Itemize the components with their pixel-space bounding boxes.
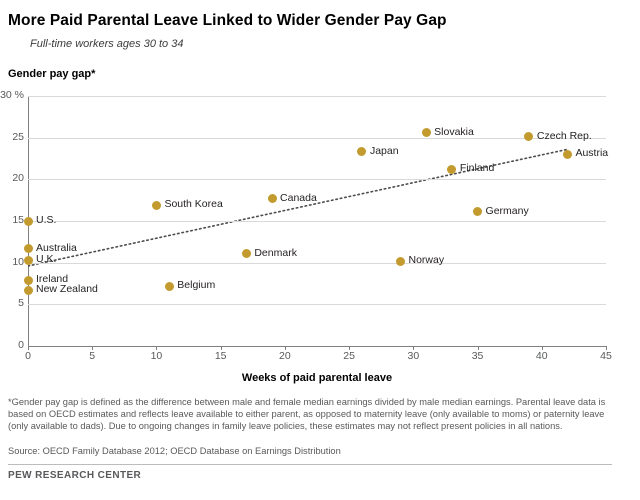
x-tick-label: 40 <box>530 350 554 362</box>
data-point <box>473 207 482 216</box>
x-tick-label: 0 <box>16 350 40 362</box>
plot-area: Weeks of paid parental leave 05101520253… <box>28 96 606 346</box>
data-point-label: Czech Rep. <box>537 130 592 142</box>
x-tick-label: 10 <box>144 350 168 362</box>
gridline <box>28 304 606 305</box>
data-point <box>563 150 572 159</box>
data-point <box>24 286 33 295</box>
source-note: Source: OECD Family Database 2012; OECD … <box>8 446 341 456</box>
data-point-label: Germany <box>486 205 529 217</box>
x-tick-label: 35 <box>466 350 490 362</box>
y-tick-label: 30 % <box>0 89 24 101</box>
footnote: *Gender pay gap is defined as the differ… <box>8 396 620 433</box>
gridline <box>28 179 606 180</box>
data-point <box>268 194 277 203</box>
x-tick-label: 5 <box>80 350 104 362</box>
gridline <box>28 138 606 139</box>
data-point-label: South Korea <box>164 198 222 210</box>
x-tick-label: 20 <box>273 350 297 362</box>
data-point <box>152 201 161 210</box>
x-tick-label: 15 <box>209 350 233 362</box>
y-tick-label: 5 <box>0 297 24 309</box>
data-point <box>24 217 33 226</box>
y-tick-label: 10 <box>0 256 24 268</box>
x-tick-label: 25 <box>337 350 361 362</box>
data-point <box>422 128 431 137</box>
y-tick-label: 25 <box>0 131 24 143</box>
page-title: More Paid Parental Leave Linked to Wider… <box>8 12 447 30</box>
data-point-label: Australia <box>36 242 77 254</box>
gridline <box>28 221 606 222</box>
data-point <box>242 249 251 258</box>
gridline <box>28 263 606 264</box>
data-point-label: U.K. <box>36 253 56 265</box>
data-point-label: New Zealand <box>36 283 98 295</box>
data-point <box>524 132 533 141</box>
y-axis-title: Gender pay gap* <box>8 68 95 80</box>
data-point-label: Denmark <box>254 247 297 259</box>
gridline <box>28 96 606 97</box>
x-tick-label: 30 <box>401 350 425 362</box>
chart-page: More Paid Parental Leave Linked to Wider… <box>0 0 640 500</box>
data-point-label: Japan <box>370 145 399 157</box>
y-tick-label: 20 <box>0 172 24 184</box>
y-tick-label: 15 <box>0 214 24 226</box>
footer-divider <box>8 464 612 465</box>
data-point <box>24 256 33 265</box>
data-point <box>24 244 33 253</box>
x-axis-line <box>28 346 606 347</box>
data-point-label: Canada <box>280 192 317 204</box>
data-point-label: Austria <box>575 147 608 159</box>
data-point <box>24 276 33 285</box>
data-point-label: Finland <box>460 162 494 174</box>
data-point-label: Norway <box>408 254 444 266</box>
data-point <box>165 282 174 291</box>
page-subtitle: Full-time workers ages 30 to 34 <box>30 38 183 50</box>
x-axis-title: Weeks of paid parental leave <box>28 372 606 384</box>
data-point-label: Belgium <box>177 279 215 291</box>
data-point <box>357 147 366 156</box>
data-point <box>447 165 456 174</box>
brand-label: PEW RESEARCH CENTER <box>8 470 141 481</box>
data-point <box>396 257 405 266</box>
data-point-label: U.S. <box>36 214 56 226</box>
data-point-label: Slovakia <box>434 126 474 138</box>
x-tick-label: 45 <box>594 350 618 362</box>
